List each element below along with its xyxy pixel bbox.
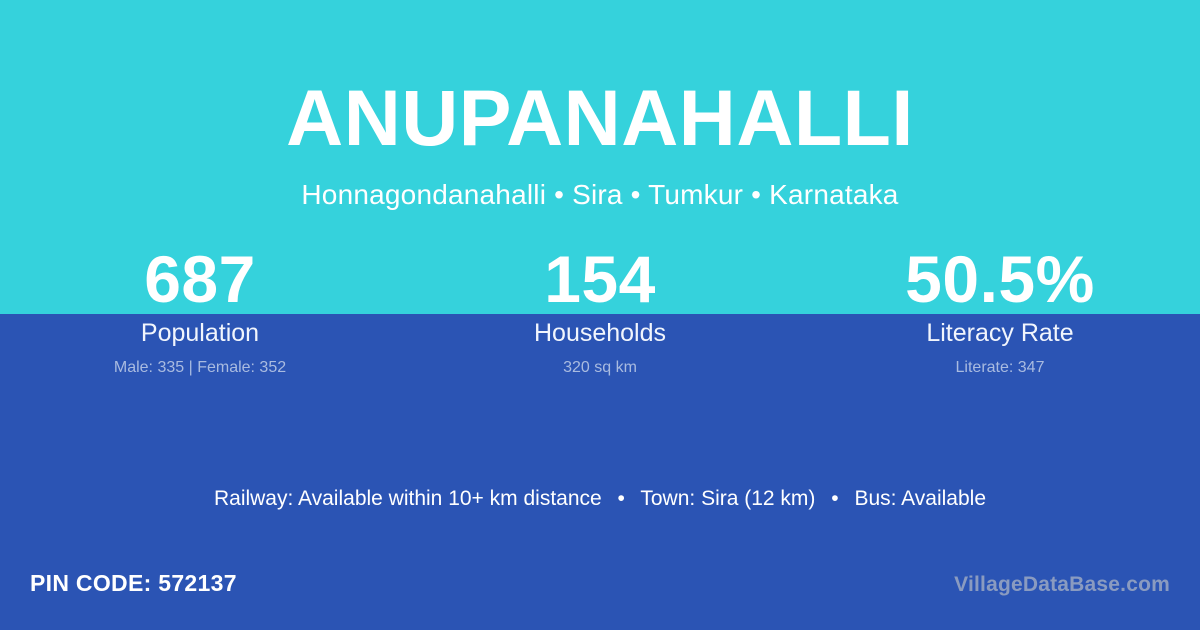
transport-railway: Railway: Available within 10+ km distanc… xyxy=(214,487,602,510)
header: ANUPANAHALLI Honnagondanahalli • Sira • … xyxy=(0,0,1200,211)
stat-value-households: 154 xyxy=(400,246,800,314)
bullet-separator-icon: • xyxy=(608,485,635,512)
stat-value-population: 687 xyxy=(0,246,400,314)
brand-logo: VillageDataBase.com xyxy=(954,572,1170,597)
transport-bus: Bus: Available xyxy=(854,487,986,510)
stats-row: 687 Population Male: 335 | Female: 352 1… xyxy=(0,246,1200,377)
stat-label-households: Households xyxy=(400,318,800,348)
stat-card-population: 687 Population Male: 335 | Female: 352 xyxy=(0,246,400,377)
stat-sub-literacy: Literate: 347 xyxy=(800,358,1200,377)
stat-sub-households: 320 sq km xyxy=(400,358,800,377)
breadcrumb: Honnagondanahalli • Sira • Tumkur • Karn… xyxy=(0,180,1200,211)
pin-code: PIN CODE: 572137 xyxy=(30,570,237,598)
footer: PIN CODE: 572137 VillageDataBase.com xyxy=(0,570,1200,615)
stat-card-households: 154 Households 320 sq km xyxy=(400,246,800,377)
stat-label-literacy: Literacy Rate xyxy=(800,318,1200,348)
stat-value-literacy: 50.5% xyxy=(800,246,1200,314)
transport-town: Town: Sira (12 km) xyxy=(640,487,815,510)
stat-card-literacy: 50.5% Literacy Rate Literate: 347 xyxy=(800,246,1200,377)
page-title: ANUPANAHALLI xyxy=(0,78,1200,157)
transport-info: Railway: Available within 10+ km distanc… xyxy=(0,485,1200,512)
bullet-separator-icon: • xyxy=(821,485,848,512)
stat-label-population: Population xyxy=(0,318,400,348)
stat-sub-population: Male: 335 | Female: 352 xyxy=(0,358,400,377)
